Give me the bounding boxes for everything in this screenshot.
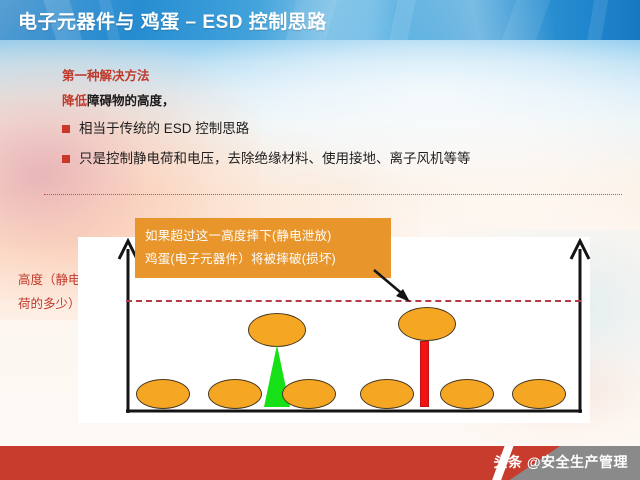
ground-baseline (116, 407, 592, 415)
ground-egg-1 (136, 379, 190, 409)
bullet-item-1-label: 相当于传统的 ESD 控制思路 (79, 114, 249, 144)
callout-pointer-arrow-icon (372, 268, 418, 306)
subline-rest: 障碍物的高度， (87, 94, 175, 108)
solution-subline: 降低障碍物的高度， (62, 88, 622, 114)
red-obstacle (420, 341, 429, 407)
page-title: 电子元器件与 鸡蛋 – ESD 控制思路 (18, 7, 327, 34)
section-divider (44, 194, 622, 195)
watermark-account: @安全生产管理 (527, 454, 628, 470)
watermark-platform: 头条 (493, 454, 522, 470)
subline-emphasis: 降低 (62, 94, 87, 108)
callout-box: 如果超过这一高度摔下(静电泄放) 鸡蛋(电子元器件）将被摔破(损坏) (135, 218, 391, 278)
square-bullet-icon (62, 125, 70, 133)
square-bullet-icon (62, 155, 70, 163)
watermark: 头条 @安全生产管理 (493, 452, 628, 472)
threshold-dashed-line (126, 300, 581, 302)
ground-egg-6 (512, 379, 566, 409)
bullet-item-2: 只是控制静电荷和电压，去除绝缘材料、使用接地、离子风机等等 (62, 144, 622, 174)
right-axis-arrow-icon (568, 237, 592, 417)
bullet-item-2-label: 只是控制静电荷和电压，去除绝缘材料、使用接地、离子风机等等 (79, 144, 471, 174)
elevated-egg-1 (248, 313, 306, 347)
body-text-block: 第一种解决方法 降低障碍物的高度， 相当于传统的 ESD 控制思路 只是控制静电… (62, 64, 622, 174)
ground-egg-2 (208, 379, 262, 409)
footer-red-section (0, 446, 560, 480)
title-band: 电子元器件与 鸡蛋 – ESD 控制思路 (0, 0, 640, 40)
bullet-item-1: 相当于传统的 ESD 控制思路 (62, 114, 622, 144)
footer-bar: 头条 @安全生产管理 (0, 446, 640, 480)
ground-egg-3 (282, 379, 336, 409)
ground-egg-5 (440, 379, 494, 409)
solution-heading: 第一种解决方法 (62, 64, 622, 88)
callout-line-2: 鸡蛋(电子元器件）将被摔破(损坏) (145, 248, 381, 271)
ground-egg-4 (360, 379, 414, 409)
elevated-egg-2 (398, 307, 456, 341)
callout-line-1: 如果超过这一高度摔下(静电泄放) (145, 225, 381, 248)
slide-canvas: 电子元器件与 鸡蛋 – ESD 控制思路 第一种解决方法 降低障碍物的高度， 相… (0, 0, 640, 480)
